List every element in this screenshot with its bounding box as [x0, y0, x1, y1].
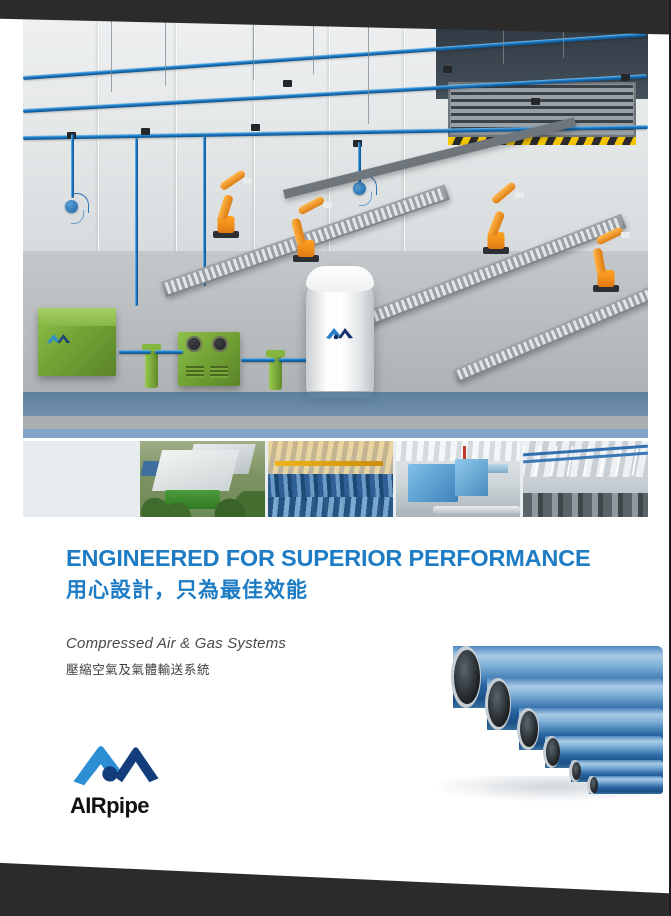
page-left-margin: [0, 0, 22, 916]
hero-blue-band: [23, 392, 648, 416]
industrial-robot-arm: [283, 194, 329, 262]
pipe-bore: [546, 738, 560, 766]
air-pipe-ground-run: [155, 350, 183, 354]
robot-end-effector: [243, 178, 252, 184]
robot-end-effector: [621, 232, 630, 238]
airpipe-mark-on-compressor: [46, 331, 72, 345]
robot-upper-arm: [297, 195, 325, 215]
dryer-fan: [186, 336, 202, 352]
subtitle-chinese: 壓縮空氣及氣體輸送系統: [66, 659, 586, 678]
airpipe-double-chevron-icon: [70, 742, 162, 786]
headline-chinese: 用心設計，只為最佳效能: [66, 578, 586, 603]
subtitle-english: Compressed Air & Gas Systems: [66, 635, 586, 652]
thumb-aerial-factory: [140, 441, 265, 517]
air-pipe-ground-run: [119, 350, 151, 354]
overhead-crane: [275, 461, 382, 466]
pipe-clamp: [531, 98, 540, 105]
air-pipe-drop: [71, 134, 74, 198]
pipe-clamp: [141, 128, 150, 135]
robot-lower-arm: [593, 248, 606, 275]
pipe-bore: [590, 777, 598, 793]
headline-block: ENGINEERED FOR SUPERIOR PERFORMANCE 用心設計…: [66, 546, 586, 678]
hose-reel: [353, 182, 366, 195]
room-ceiling: [396, 441, 521, 461]
factory-roof: [152, 450, 240, 491]
pipe-clamp: [621, 74, 630, 81]
production-machines: [523, 493, 648, 517]
air-receiver-tank: [306, 266, 374, 394]
dryer-fan: [212, 336, 228, 352]
pipe-bore: [488, 681, 510, 727]
floor-pipe-run: [433, 506, 520, 514]
hero-blue-band-light: [23, 429, 648, 438]
industrial-robot-arm: [473, 192, 519, 254]
thumbnail-strip: [140, 441, 648, 517]
pipe-clamp: [443, 66, 452, 73]
ceiling-drop-rod: [165, 14, 166, 86]
refrigerated-air-dryer: [178, 332, 240, 386]
industrial-robot-arm: [203, 174, 249, 238]
robot-upper-arm: [595, 226, 624, 245]
headline-english: ENGINEERED FOR SUPERIOR PERFORMANCE: [66, 546, 586, 572]
blue-compressor: [455, 459, 487, 495]
ceiling-drop-rod: [368, 14, 369, 124]
dryer-vent: [210, 366, 228, 378]
airpipe-logo: AIRpipe: [70, 742, 162, 819]
pipe-stacks-foreground: [268, 497, 393, 517]
filter-cap: [266, 350, 285, 357]
air-filter-unit: [269, 350, 282, 390]
ceiling-drop-rod: [111, 14, 112, 92]
thumb-compressor-room: [396, 441, 521, 517]
dryer-vent: [186, 366, 204, 378]
pipe-6: [589, 776, 663, 794]
pipe-clamp: [283, 80, 292, 87]
robot-lower-arm: [291, 218, 306, 245]
pipe-clamp: [251, 124, 260, 131]
airpipe-mark-on-tank: [325, 325, 355, 343]
air-pipe-ground-run: [241, 358, 275, 362]
air-pipe-drop: [135, 138, 138, 306]
hero-image: [23, 14, 648, 438]
blue-compressor: [408, 464, 458, 502]
air-compressor-unit: [38, 308, 116, 376]
airpipe-wordmark: AIRpipe: [70, 793, 162, 819]
thumb-production-floor: [523, 441, 648, 517]
tree-canopy: [140, 491, 265, 517]
tank-dome: [306, 266, 374, 292]
robot-end-effector: [323, 202, 332, 208]
page-bottom-edge-band: [0, 862, 671, 916]
hose-reel: [65, 200, 78, 213]
warehouse-roof-truss: [268, 441, 393, 476]
robot-end-effector: [515, 192, 524, 198]
pipe-bore: [572, 762, 581, 780]
industrial-robot-arm: [583, 222, 629, 292]
brochure-page: ENGINEERED FOR SUPERIOR PERFORMANCE 用心設計…: [0, 0, 671, 916]
thumb-pipe-warehouse: [268, 441, 393, 517]
pipe-bore: [520, 711, 538, 747]
pipe-body: [589, 776, 663, 794]
compressor-top: [38, 308, 116, 326]
